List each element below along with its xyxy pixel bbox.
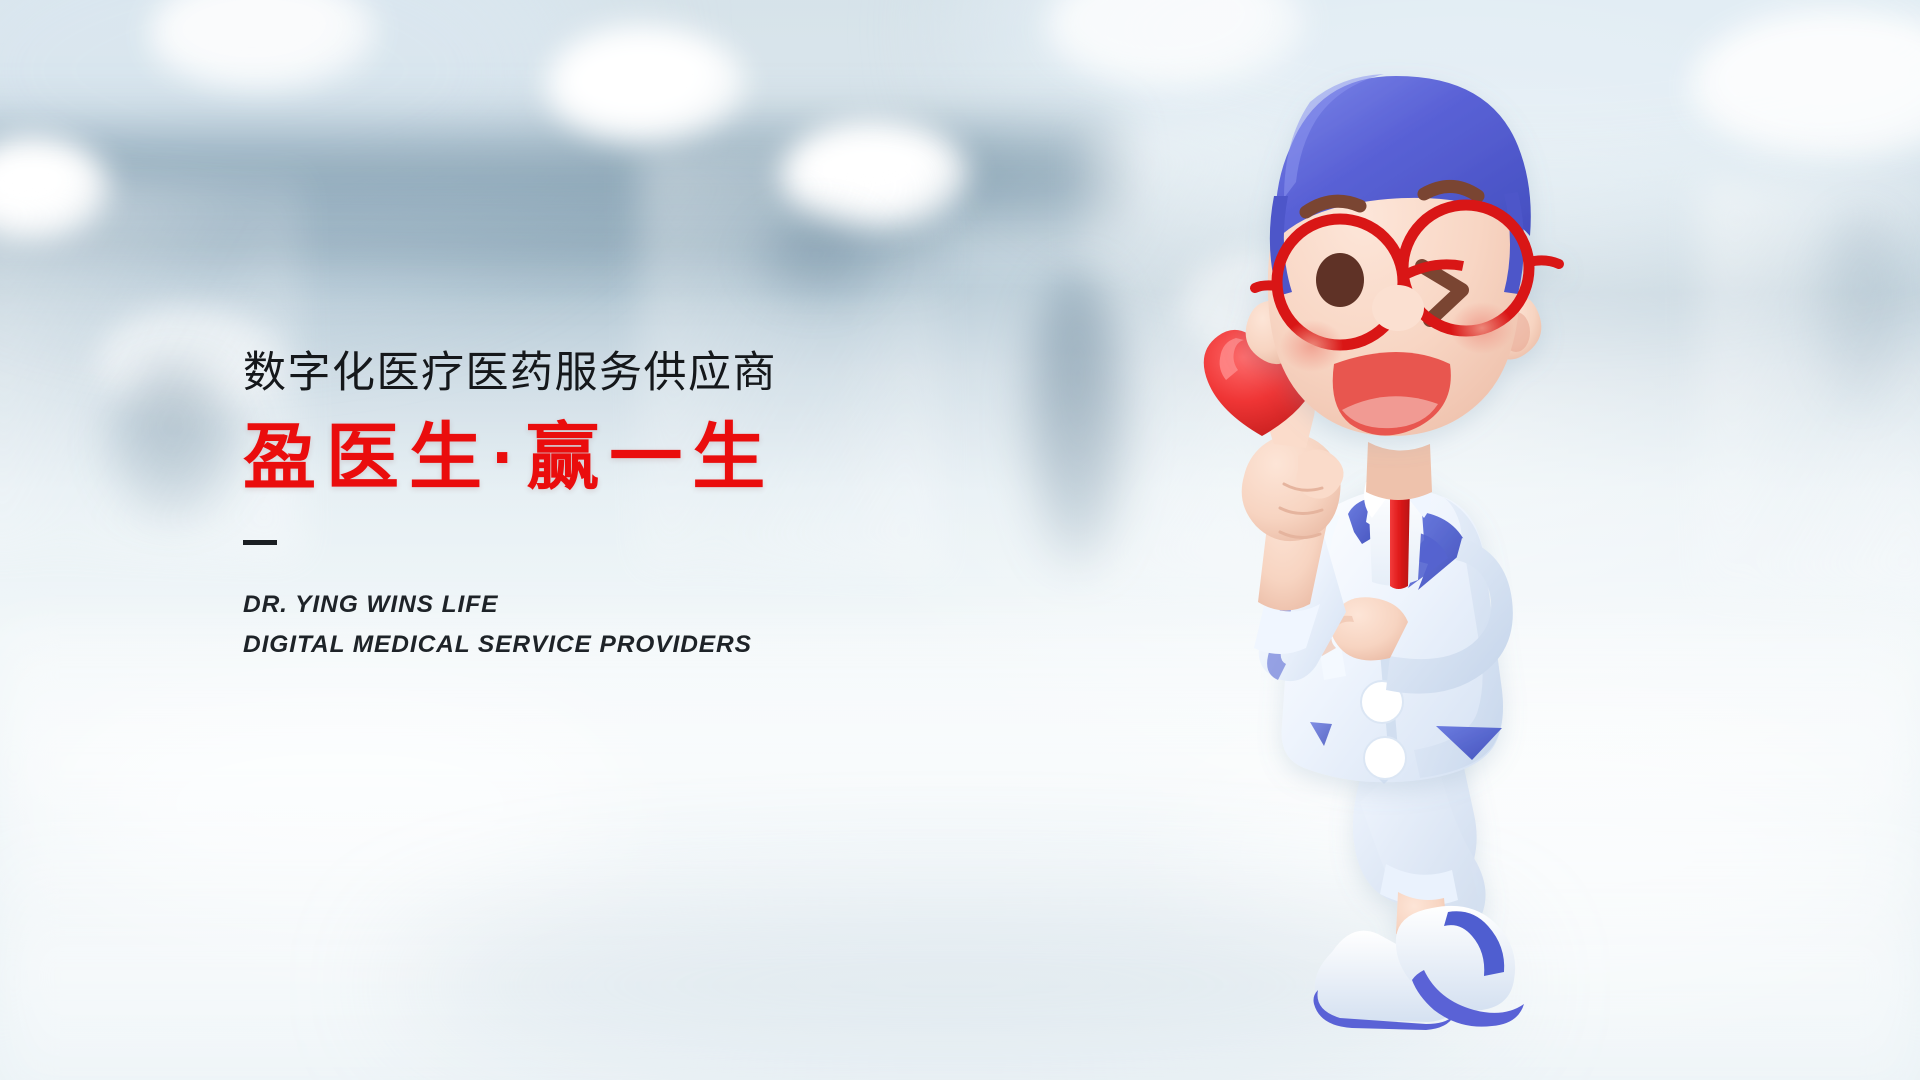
- character-head: [1246, 74, 1559, 436]
- cheek-right: [1450, 302, 1514, 354]
- doctor-character-illustration: [1200, 46, 1630, 1046]
- banner-stage: 数字化医疗医药服务供应商 盈医生·赢一生 DR. YING WINS LIFE …: [0, 0, 1920, 1080]
- eye-open: [1316, 253, 1364, 307]
- page-kicker: 数字化医疗医药服务供应商: [243, 352, 1003, 395]
- subtitle-line-2: DIGITAL MEDICAL SERVICE PROVIDERS: [243, 625, 1003, 665]
- title-divider: [243, 540, 277, 545]
- character-neck: [1366, 442, 1432, 500]
- nose: [1372, 285, 1424, 331]
- subtitle-english: DR. YING WINS LIFE DIGITAL MEDICAL SERVI…: [243, 585, 1003, 664]
- hero-copy: 数字化医疗医药服务供应商 盈医生·赢一生 DR. YING WINS LIFE …: [243, 352, 1003, 664]
- subtitle-line-1: DR. YING WINS LIFE: [243, 585, 1003, 625]
- page-title: 盈医生·赢一生: [243, 421, 1003, 494]
- character-shoes: [1314, 906, 1525, 1030]
